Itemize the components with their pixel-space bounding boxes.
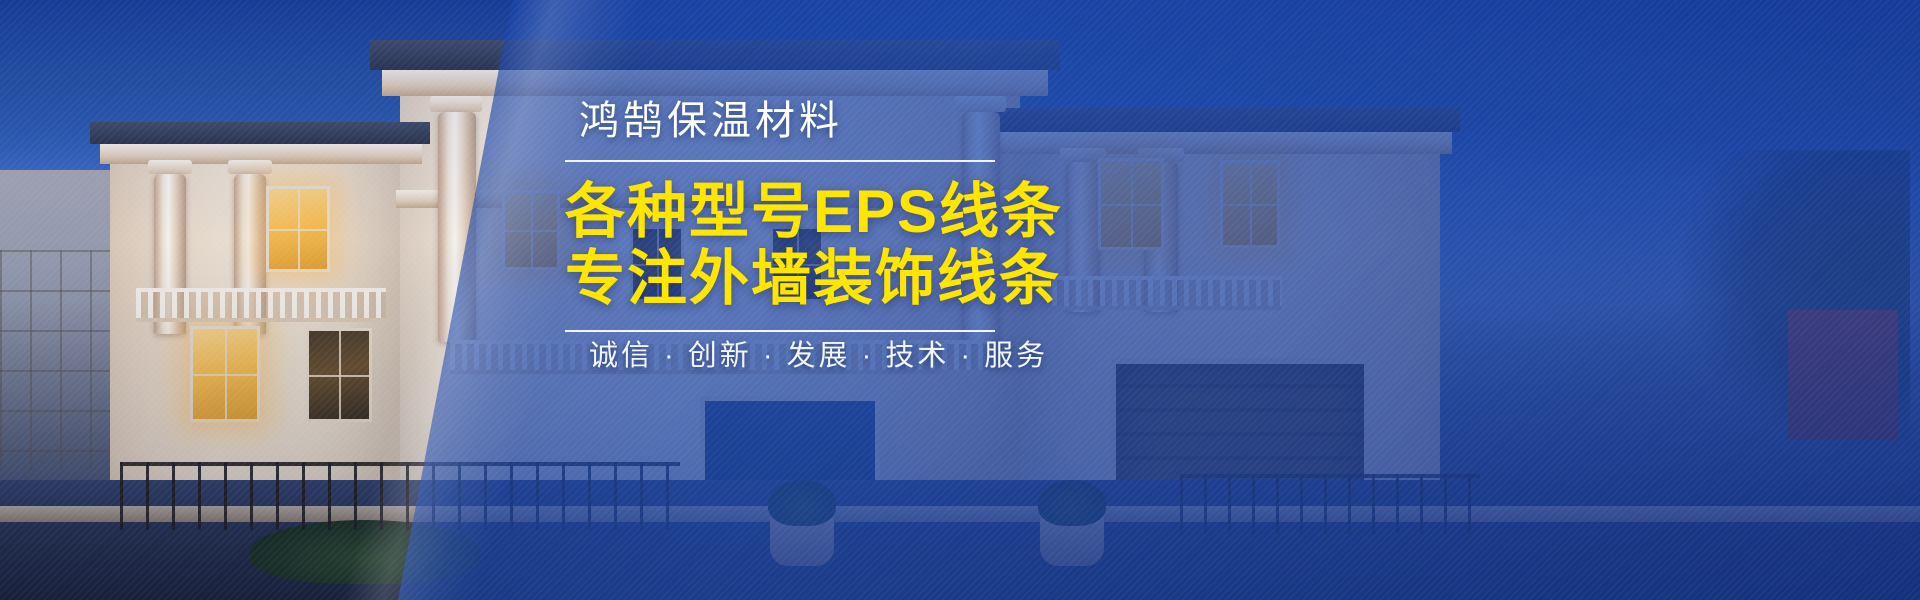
headline-line-1: 各种型号EPS线条 bbox=[565, 178, 1365, 245]
column-capital bbox=[148, 160, 192, 174]
window-lit bbox=[502, 190, 560, 270]
tagline: 诚信 · 创新 · 发展 · 技术 · 服务 bbox=[589, 332, 1365, 374]
window-lit bbox=[190, 326, 260, 422]
shrub bbox=[768, 480, 836, 526]
divider-top bbox=[565, 160, 995, 162]
cornice-center bbox=[382, 70, 1048, 96]
window bbox=[306, 328, 372, 422]
promo-banner: 鸿鹄保温材料 各种型号EPS线条 专注外墙装饰线条 诚信 · 创新 · 发展 ·… bbox=[0, 0, 1920, 600]
brand-name: 鸿鹄保温材料 bbox=[579, 96, 1365, 146]
red-container bbox=[1788, 310, 1898, 440]
window-lit bbox=[266, 186, 330, 272]
roof-center bbox=[370, 40, 1060, 70]
shrub bbox=[1038, 480, 1106, 526]
headline-group: 各种型号EPS线条 专注外墙装饰线条 bbox=[565, 178, 1365, 312]
column-capital bbox=[430, 96, 482, 112]
iron-railing bbox=[1180, 474, 1480, 534]
banner-content: 鸿鹄保温材料 各种型号EPS线条 专注外墙装饰线条 诚信 · 创新 · 发展 ·… bbox=[565, 96, 1365, 374]
roof-left bbox=[90, 122, 430, 144]
column bbox=[438, 112, 476, 342]
iron-railing bbox=[120, 462, 680, 530]
headline-line-2: 专注外墙装饰线条 bbox=[565, 245, 1365, 312]
column-capital bbox=[228, 160, 272, 174]
balustrade bbox=[136, 288, 386, 322]
